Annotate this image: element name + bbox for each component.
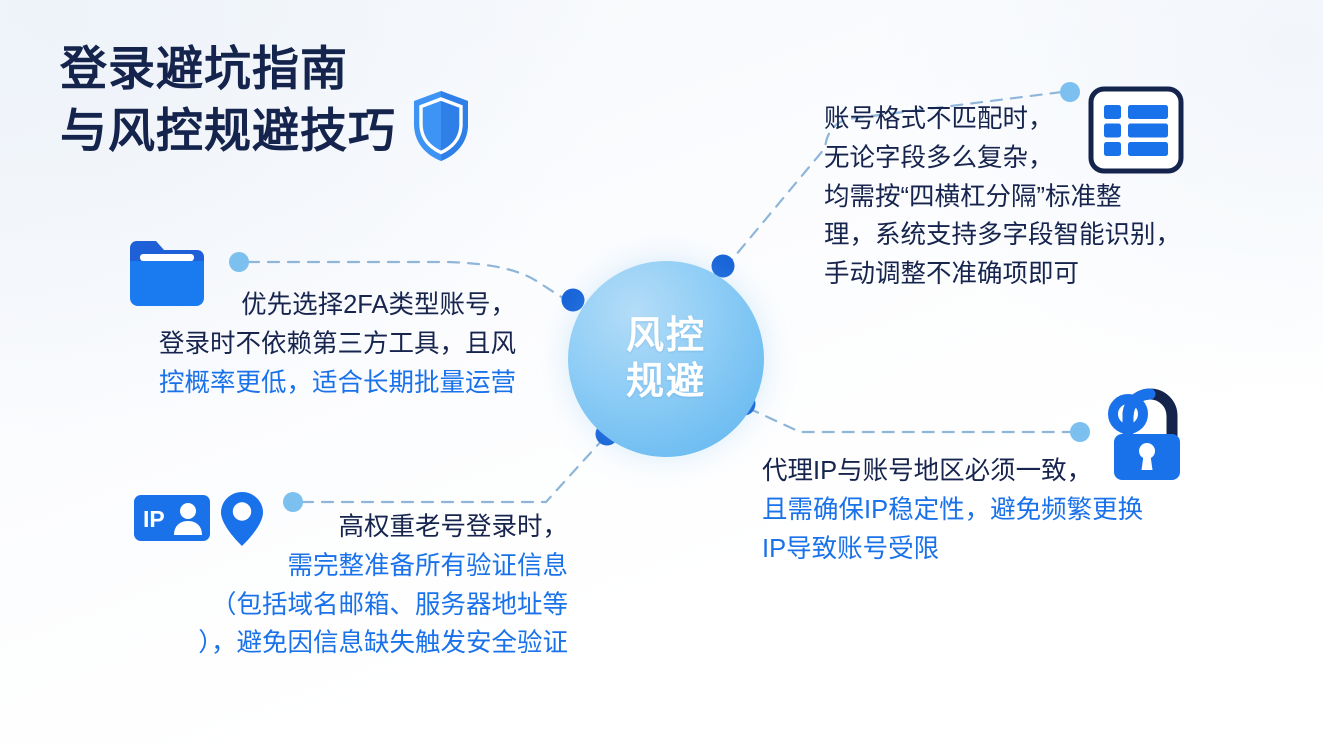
- ip-user-badge-icon: IP: [134, 495, 210, 546]
- title-line-1: 登录避坑指南: [60, 38, 396, 100]
- connector-bottom-right: [748, 408, 1072, 432]
- node-dot-top-left: [229, 252, 249, 272]
- hub-node: 风控 规避: [568, 261, 764, 457]
- node-bottom-right-text: 代理IP与账号地区必须一致， 且需确保IP稳定性，避免频繁更换 IP导致账号受限: [762, 452, 1143, 568]
- map-pin-icon: [218, 490, 266, 553]
- node-top-left-line-3: 控概率更低，适合长期批量运营: [128, 364, 516, 403]
- node-bottom-right-line-2: 且需确保IP稳定性，避免频繁更换: [762, 491, 1143, 530]
- folder-icon: [128, 238, 206, 315]
- shield-icon: [410, 88, 472, 169]
- node-top-right-line-5: 手动调整不准确项即可: [824, 255, 1181, 294]
- page-title: 登录避坑指南 与风控规避技巧: [60, 38, 472, 169]
- infographic-canvas: 登录避坑指南 与风控规避技巧 风控 规避 账号格式不匹配时， 无论字段多么复杂，…: [0, 0, 1323, 744]
- connector-bottom-left: [302, 438, 604, 502]
- node-top-right-line-3: 均需按“四横杠分隔”标准整: [824, 178, 1181, 217]
- node-dot-top-right: [1060, 82, 1080, 102]
- title-text: 登录避坑指南 与风控规避技巧: [60, 38, 396, 162]
- hub-line-2: 规避: [626, 359, 706, 405]
- title-line-2: 与风控规避技巧: [60, 100, 396, 162]
- hub-line-1: 风控: [626, 313, 706, 359]
- node-bottom-left-line-3: （包括域名邮箱、服务器地址等: [118, 586, 568, 625]
- node-dot-bottom-right: [1070, 422, 1090, 442]
- node-bottom-right-line-1: 代理IP与账号地区必须一致，: [762, 452, 1143, 491]
- svg-text:IP: IP: [143, 506, 165, 532]
- list-icon: [1088, 86, 1184, 179]
- node-bottom-left-line-2: 需完整准备所有验证信息: [118, 547, 568, 586]
- node-bottom-left-line-4: ），避免因信息缺失触发安全验证: [118, 624, 568, 663]
- node-top-right-line-4: 理，系统支持多字段智能识别，: [824, 216, 1181, 255]
- lock-icon: [1098, 388, 1190, 489]
- node-top-left-line-2: 登录时不依赖第三方工具，且风: [128, 325, 516, 364]
- node-bottom-right-line-3: IP导致账号受限: [762, 530, 1143, 569]
